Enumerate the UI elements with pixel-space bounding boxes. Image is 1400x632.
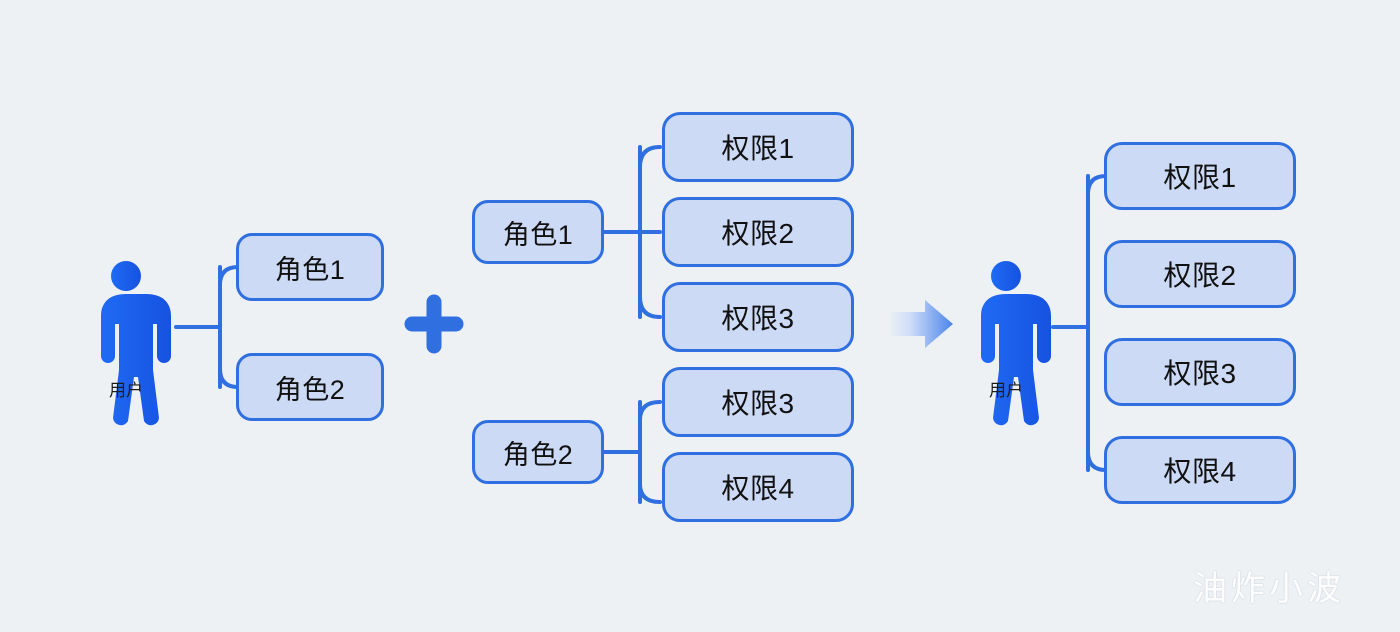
result-permission-box-2[interactable]: 权限2 bbox=[1104, 240, 1296, 308]
actor-user-left: 用户 bbox=[88, 258, 164, 401]
actor-user-right-label: 用户 bbox=[989, 376, 1023, 401]
permission-box-role2-1[interactable]: 权限3 bbox=[662, 367, 854, 437]
role-box-2[interactable]: 角色2 bbox=[236, 353, 384, 421]
watermark: 油炸小波 bbox=[1193, 561, 1345, 610]
role-box-1[interactable]: 角色1 bbox=[236, 233, 384, 301]
result-permission-box-3[interactable]: 权限3 bbox=[1104, 338, 1296, 406]
plus-icon bbox=[412, 302, 456, 346]
permission-box-role2-2[interactable]: 权限4 bbox=[662, 452, 854, 522]
actor-user-left-label: 用户 bbox=[109, 376, 143, 401]
connector-user-to-all-permissions bbox=[1053, 176, 1106, 470]
result-permission-box-1[interactable]: 权限1 bbox=[1104, 142, 1296, 210]
actor-user-right: 用户 bbox=[968, 258, 1044, 401]
result-permission-box-4[interactable]: 权限4 bbox=[1104, 436, 1296, 504]
connector-user-to-roles bbox=[176, 267, 238, 387]
role-box-2-middle[interactable]: 角色2 bbox=[472, 420, 604, 484]
permission-box-role1-2[interactable]: 权限2 bbox=[662, 197, 854, 267]
role-box-1-middle[interactable]: 角色1 bbox=[472, 200, 604, 264]
permission-box-role1-1[interactable]: 权限1 bbox=[662, 112, 854, 182]
connector-role1-to-permissions bbox=[604, 147, 660, 317]
connector-role2-to-permissions bbox=[604, 402, 660, 502]
permission-box-role1-3[interactable]: 权限3 bbox=[662, 282, 854, 352]
arrow-right-icon bbox=[888, 300, 953, 348]
